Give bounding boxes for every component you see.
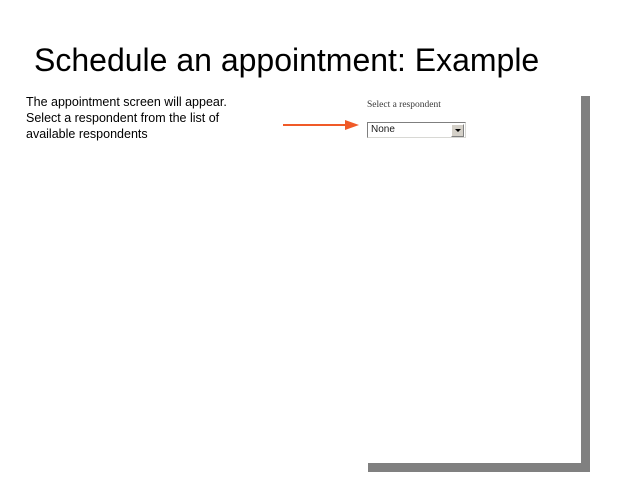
page-title: Schedule an appointment: Example <box>34 41 614 79</box>
right-arrow-svg <box>283 117 363 133</box>
embedded-screenshot: Select a respondent None <box>363 94 591 473</box>
respondent-dropdown-value: None <box>368 124 451 136</box>
chevron-down-icon[interactable] <box>451 124 464 137</box>
screenshot-shadow-bottom <box>368 463 590 472</box>
respondent-dropdown-label: Select a respondent <box>367 100 441 111</box>
respondent-dropdown[interactable]: None <box>367 122 466 138</box>
slide-body-text: The appointment screen will appear. Sele… <box>26 94 254 142</box>
right-arrow-icon <box>283 117 363 133</box>
screenshot-shadow-right <box>581 96 590 472</box>
slide-canvas: Schedule an appointment: Example The app… <box>0 0 640 480</box>
